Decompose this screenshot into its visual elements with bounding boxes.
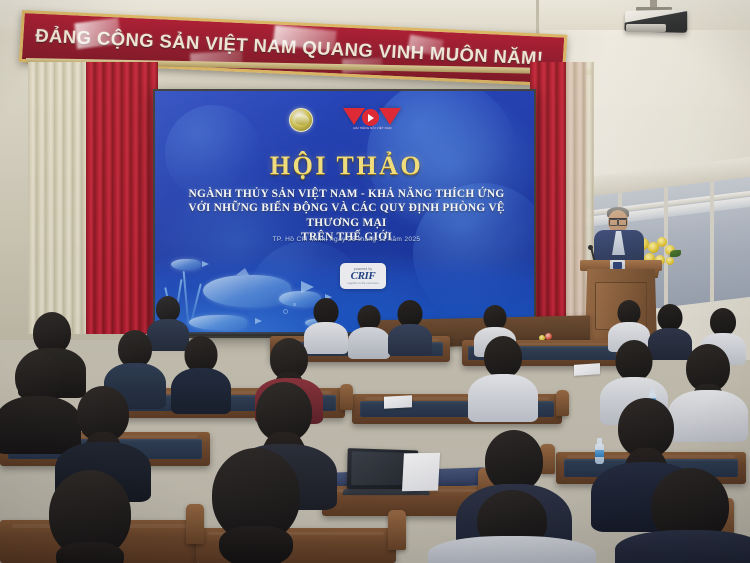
bench-armrest [556, 390, 569, 416]
microphone-icon [588, 245, 593, 250]
crif-logo-wordmark: CRIF [351, 271, 376, 282]
audience-head [616, 340, 653, 381]
audience-member [432, 490, 592, 563]
fish-tail [255, 318, 262, 324]
slide-logo-row: ĐÀI TIẾNG NÓI VIỆT NAM [155, 107, 536, 133]
audience-shoulders [615, 530, 750, 563]
audience-shoulders [428, 536, 596, 563]
glasses-icon [609, 218, 627, 223]
bench-armrest [340, 384, 353, 410]
crif-logo-icon: powered by CRIF together to the next lev… [340, 263, 386, 289]
audience-head [15, 352, 61, 402]
audience-member [620, 468, 750, 563]
audience-head [314, 298, 339, 325]
audience-member [174, 336, 228, 408]
audience-head [658, 304, 683, 331]
audience-shoulders [348, 327, 390, 359]
audience-member [182, 448, 330, 563]
bench-armrest [388, 510, 406, 550]
projector-lens [626, 24, 666, 32]
notepad [574, 363, 600, 376]
vov-letter-v-right [379, 108, 401, 125]
vov-play-circle [362, 109, 379, 126]
fish-icon [171, 259, 201, 270]
open-laptop[interactable] [343, 449, 429, 503]
vov-tagline: ĐÀI TIẾNG NÓI VIỆT NAM [341, 126, 405, 130]
audience-shoulders [468, 374, 538, 422]
handout-paper [384, 395, 412, 408]
conference-photo: ĐẢNG CỘNG SẢN VIỆT NAM QUANG VINH MUÔN N… [0, 0, 750, 563]
bubble-icon [293, 303, 296, 306]
audience-member [352, 305, 386, 355]
audience-shoulders [388, 324, 432, 356]
audience-hair [219, 526, 293, 563]
ceiling-projector [620, 0, 696, 42]
slide-subtitle-line-1: NGÀNH THỦY SẢN VIỆT NAM - KHẢ NĂNG THÍCH… [165, 187, 528, 201]
flower-petal [666, 257, 674, 265]
handout-paper [402, 453, 440, 492]
flower-petal [545, 333, 552, 340]
fish-body [171, 259, 201, 270]
red-curtain-left [86, 62, 158, 334]
audience-head [484, 336, 522, 378]
fish-body [189, 315, 247, 330]
slide-title: HỘI THẢO [155, 151, 536, 181]
audience-member [392, 300, 428, 352]
slide-subtitle-line-2: VỚI NHỮNG BIẾN ĐỘNG VÀ CÁC QUY ĐỊNH PHÒN… [165, 201, 528, 230]
audience-head [398, 300, 423, 327]
crif-logo-bottom-text: together to the next level [347, 282, 378, 285]
slide-date-line: TP. Hồ Chí Minh, ngày 28 tháng 11 năm 20… [155, 236, 536, 243]
projection-screen: ĐÀI TIẾNG NÓI VIỆT NAM HỘI THẢO NGÀNH TH… [153, 89, 536, 336]
audience-head [485, 430, 543, 492]
window-mullion [710, 181, 714, 301]
audience-hair [56, 542, 124, 563]
audience-member [472, 336, 534, 418]
audience-member [20, 470, 160, 563]
fish-tail [202, 261, 209, 267]
fish-icon [189, 315, 247, 330]
fish-fin [236, 268, 249, 275]
bubble-icon [283, 309, 288, 314]
vov-logo-icon: ĐÀI TIẾNG NÓI VIỆT NAM [341, 107, 405, 133]
fish-icon [203, 275, 291, 307]
fish-body [203, 275, 291, 307]
audience-head [710, 308, 736, 336]
vasep-emblem-icon [289, 108, 313, 132]
audience-shoulders [171, 368, 231, 414]
flower-leaf [670, 250, 681, 257]
